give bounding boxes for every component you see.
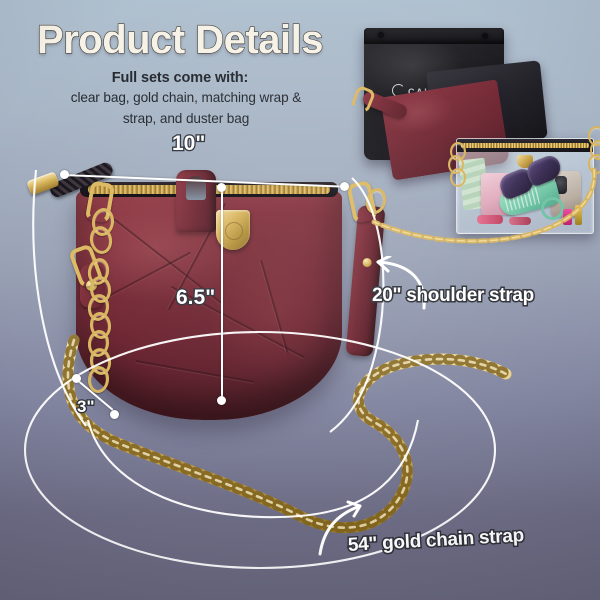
height-dimension-line	[221, 186, 223, 400]
subtitle-line-2: strap, and duster bag	[30, 110, 342, 128]
width-dim-endpoint-right	[340, 182, 349, 191]
bag-depth-dimension: 3"	[77, 397, 95, 417]
clear-bag	[456, 138, 594, 234]
clear-bag-zipper	[461, 143, 589, 148]
subtitle-line-1: clear bag, gold chain, matching wrap &	[30, 89, 342, 107]
item-pink-tube	[563, 209, 572, 225]
depth-dim-endpoint-top	[72, 374, 81, 383]
item-pencil	[575, 205, 582, 225]
shoulder-strap-callout: 20" shoulder strap	[372, 285, 534, 307]
accessory-cluster: CAITIE ℱ	[352, 14, 600, 244]
item-comb-ring	[541, 197, 564, 220]
item-lip-gloss	[509, 217, 531, 225]
drawstring-tie-left	[378, 32, 384, 38]
header-block: Product Details Full sets come with: cle…	[0, 0, 360, 128]
cluster-chain-link	[450, 168, 466, 187]
height-dim-endpoint-bottom	[217, 396, 226, 405]
width-dim-endpoint-left	[60, 170, 69, 179]
cluster-chain-link	[588, 154, 600, 174]
product-details-graphic: Product Details Full sets come with: cle…	[0, 0, 600, 600]
bag-height-dimension: 6.5"	[176, 286, 215, 310]
depth-dim-endpoint-bottom	[110, 410, 119, 419]
subtitle-bold: Full sets come with:	[0, 70, 360, 86]
bag-width-dimension: 10"	[172, 132, 205, 156]
drawstring-tie-right	[482, 33, 488, 39]
page-title: Product Details	[0, 18, 360, 62]
item-lipstick	[477, 215, 503, 224]
height-dim-endpoint-top	[217, 183, 226, 192]
